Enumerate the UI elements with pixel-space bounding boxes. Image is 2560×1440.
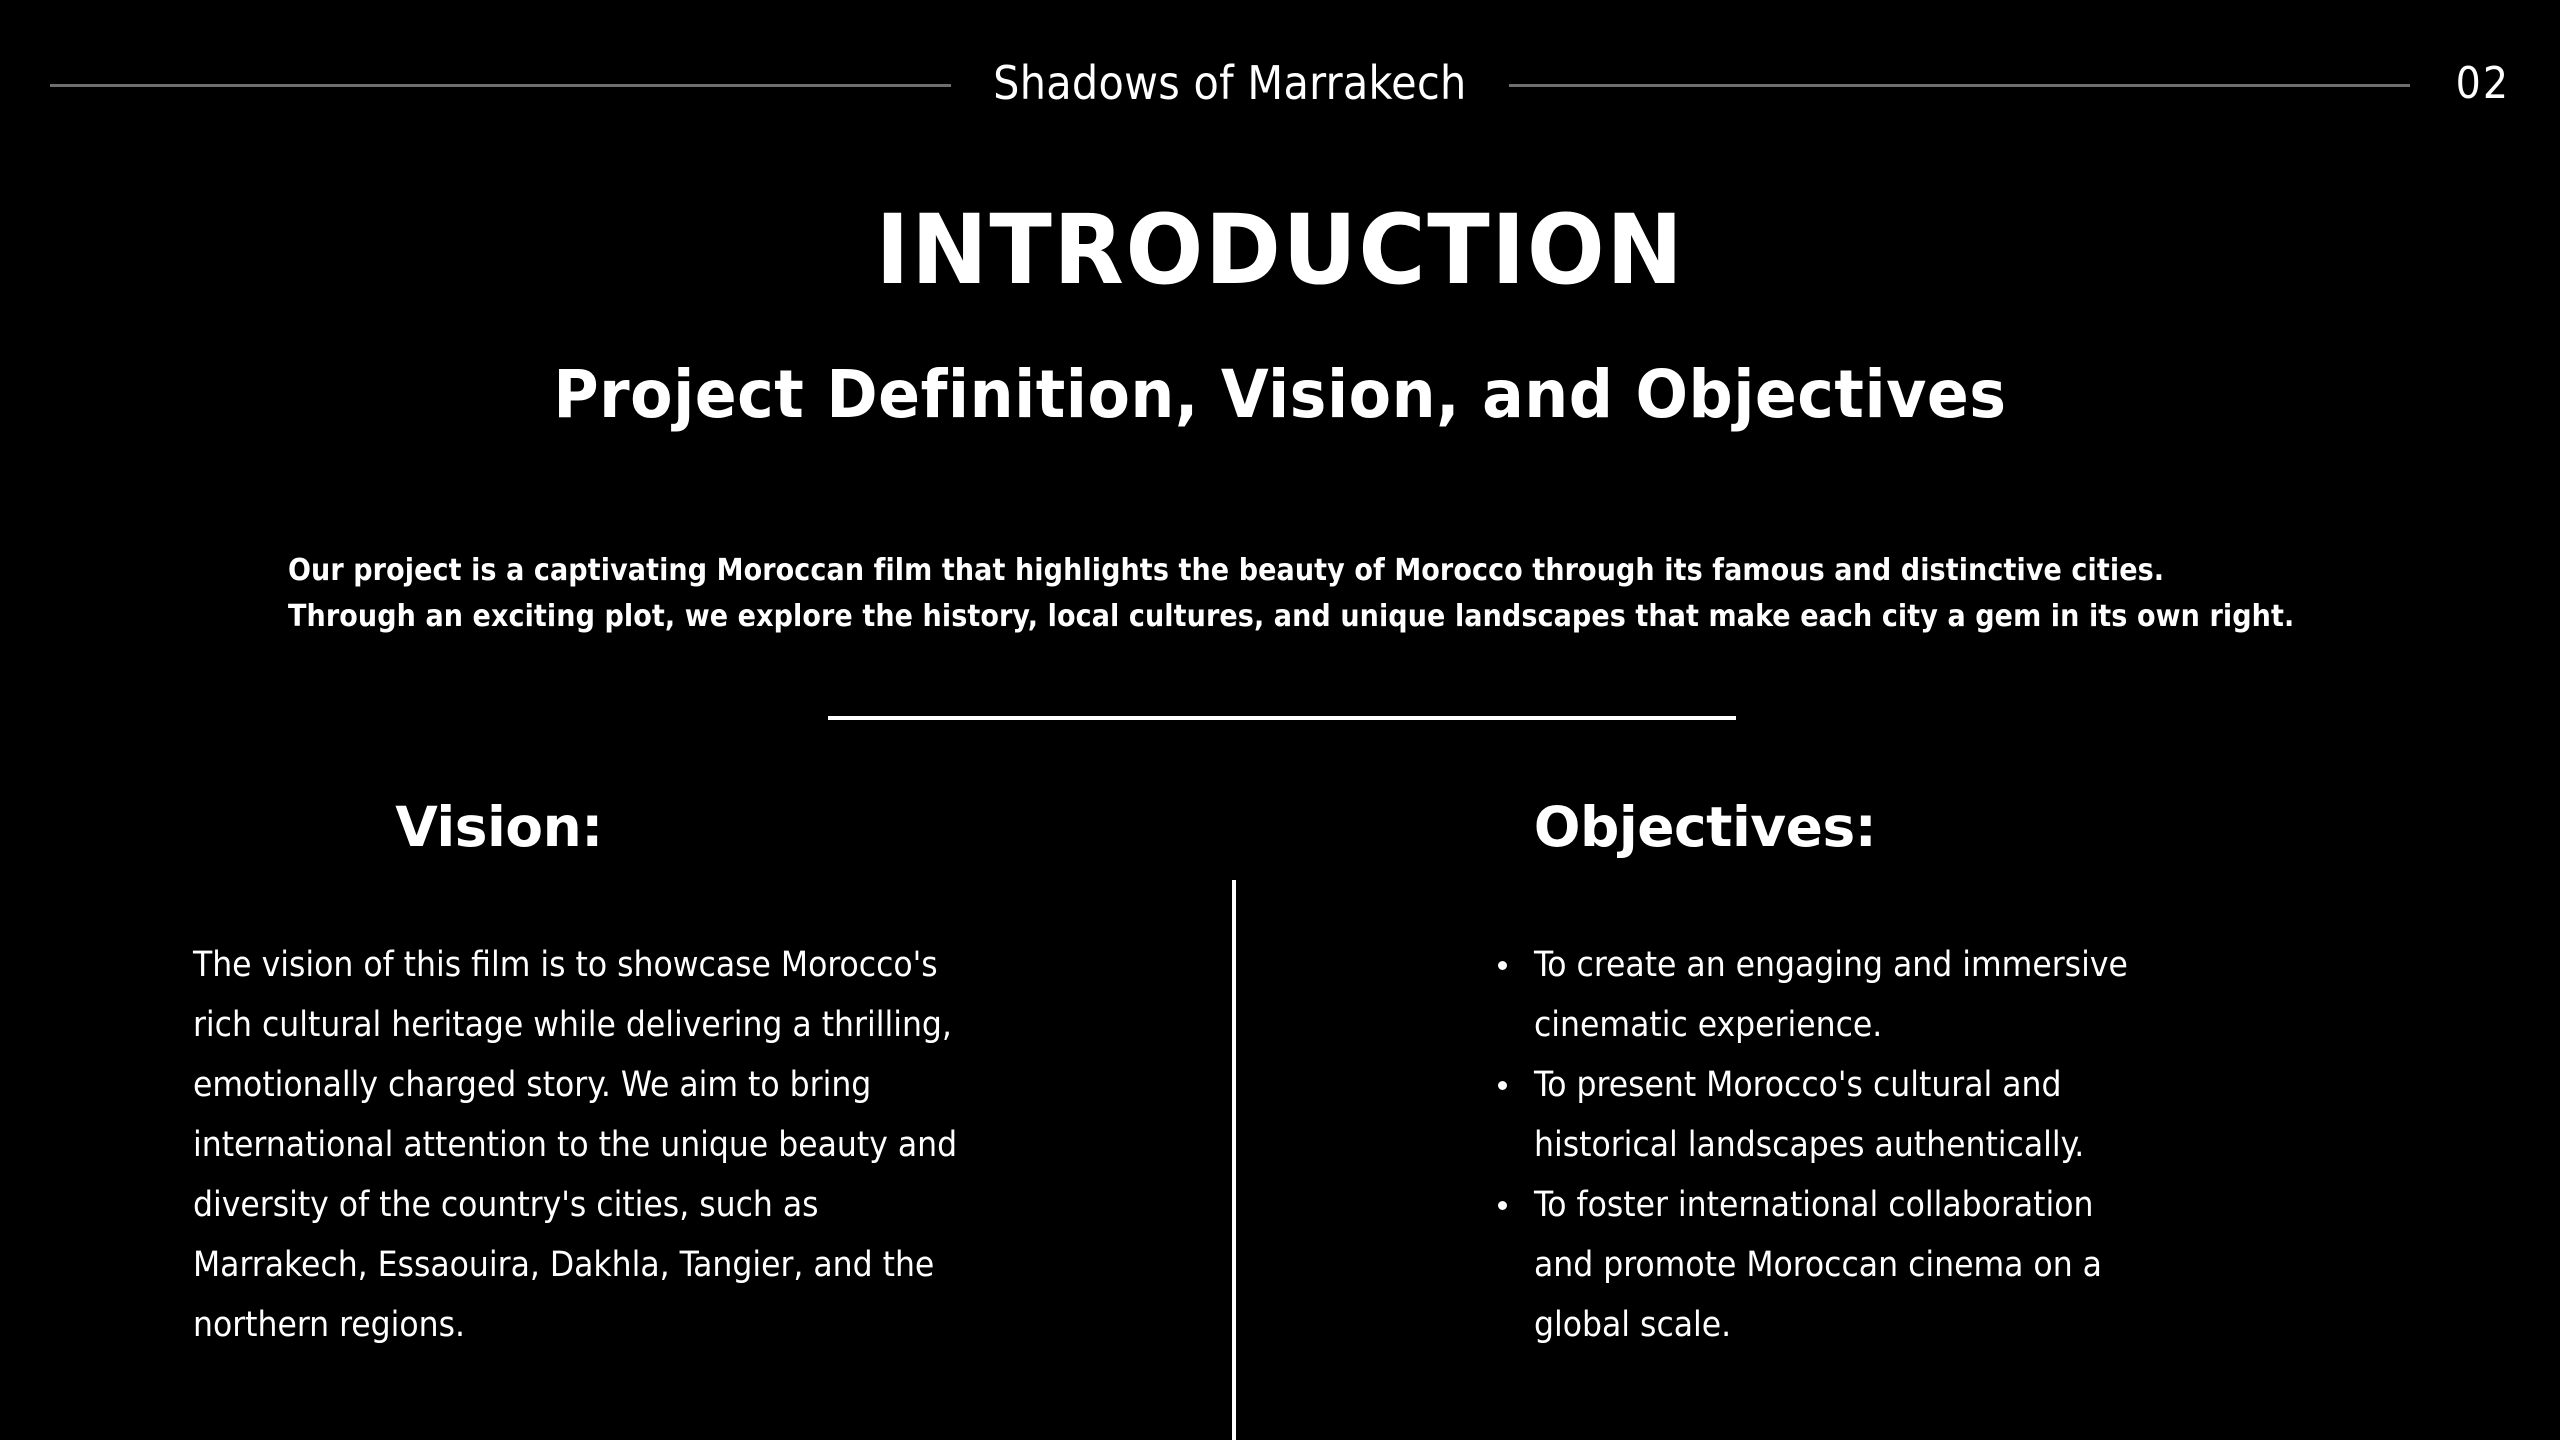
list-item-label: To foster international collaboration an…: [1534, 1185, 2102, 1345]
page-title: INTRODUCTION: [0, 200, 2560, 301]
objectives-column: Objectives: To create an engaging and im…: [1300, 800, 2400, 1355]
list-item: To present Morocco's cultural and histor…: [1496, 1055, 2150, 1175]
header-rule-right: [1509, 84, 2410, 87]
page-subtitle: Project Definition, Vision, and Objectiv…: [0, 359, 2560, 432]
list-item-label: To present Morocco's cultural and histor…: [1534, 1065, 2084, 1165]
header-rule-left: [50, 84, 951, 87]
objectives-list: To create an engaging and immersive cine…: [1496, 935, 2150, 1355]
slide-root: Shadows of Marrakech 02 INTRODUCTION Pro…: [0, 0, 2560, 1440]
list-item: To create an engaging and immersive cine…: [1496, 935, 2150, 1055]
page-number: 02: [2456, 62, 2510, 108]
section-divider: [828, 716, 1736, 720]
intro-paragraph: Our project is a captivating Moroccan fi…: [288, 548, 2288, 640]
bullet-dot-icon: [1498, 961, 1507, 970]
title-block: INTRODUCTION Project Definition, Vision,…: [0, 200, 2560, 431]
list-item-label: To create an engaging and immersive cine…: [1534, 945, 2128, 1045]
list-item: To foster international collaboration an…: [1496, 1175, 2150, 1355]
vision-heading: Vision:: [100, 800, 1200, 855]
vision-column: Vision: The vision of this film is to sh…: [100, 800, 1200, 1355]
objectives-body: To create an engaging and immersive cine…: [1300, 935, 2150, 1355]
bullet-dot-icon: [1498, 1081, 1507, 1090]
intro-paragraph-line-2: Through an exciting plot, we explore the…: [288, 594, 2288, 640]
intro-paragraph-line-1: Our project is a captivating Moroccan fi…: [288, 548, 2288, 594]
presentation-title: Shadows of Marrakech: [993, 60, 1466, 110]
two-column-section: Vision: The vision of this film is to sh…: [0, 800, 2560, 1440]
column-divider: [1232, 880, 1236, 1440]
vision-body: The vision of this film is to showcase M…: [100, 935, 1000, 1355]
bullet-dot-icon: [1498, 1201, 1507, 1210]
objectives-heading: Objectives:: [1300, 800, 2400, 855]
slide-header: Shadows of Marrakech 02: [0, 55, 2560, 115]
